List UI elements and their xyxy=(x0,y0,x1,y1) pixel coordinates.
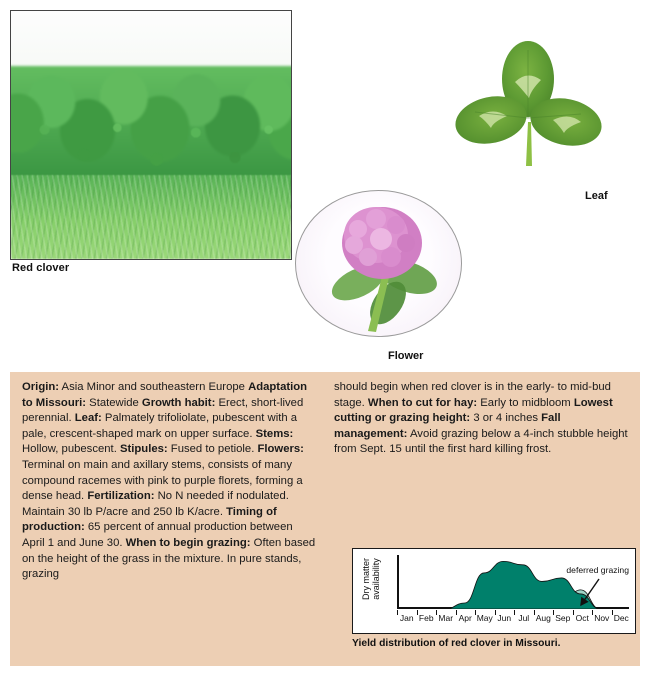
info-panel: Origin: Asia Minor and southeastern Euro… xyxy=(10,372,640,666)
flower-photo xyxy=(295,190,462,337)
chart-x-tick: May xyxy=(475,613,495,625)
info-label: Timing of production: xyxy=(22,506,277,534)
chart-caption: Yield distribution of red clover in Miss… xyxy=(352,638,560,649)
chart-x-tick-labels: JanFebMarAprMayJunJulAugSepOctNovDec xyxy=(397,613,631,625)
info-label: Flowers: xyxy=(257,443,303,455)
info-left-text: Origin: Asia Minor and southeastern Euro… xyxy=(22,380,316,583)
chart-plot-area xyxy=(397,555,629,609)
chart-x-tick: Sep xyxy=(553,613,573,625)
field-photo-red-clover xyxy=(10,10,292,260)
chart-x-tick: Mar xyxy=(436,613,456,625)
leaf-photo xyxy=(455,34,605,169)
chart-x-tick: Jan xyxy=(397,613,417,625)
chart-annotation-deferred-grazing: deferred grazing xyxy=(566,565,629,575)
publication-page: Red clover xyxy=(0,0,650,674)
info-label: Fertilization: xyxy=(87,490,154,502)
chart-y-axis-label: Dry matter availability xyxy=(361,548,381,616)
info-label: Growth habit: xyxy=(142,397,215,409)
chart-area-series xyxy=(397,555,629,609)
field-photo-caption: Red clover xyxy=(12,262,69,274)
chart-x-tick: Oct xyxy=(573,613,593,625)
info-label: Origin: xyxy=(22,381,59,393)
info-label: Stems: xyxy=(256,428,294,440)
chart-x-tick: Aug xyxy=(534,613,554,625)
info-label: When to cut for hay: xyxy=(368,397,477,409)
leaf-photo-caption: Leaf xyxy=(585,190,608,202)
yield-chart: Dry matter availability JanFebMarAprMayJ… xyxy=(352,548,636,634)
flower-photo-caption: Flower xyxy=(388,350,423,362)
info-label: Leaf: xyxy=(75,412,102,424)
chart-x-tick: Dec xyxy=(612,613,632,625)
info-right-text: should begin when red clover is in the e… xyxy=(334,380,628,458)
clover-flower-icon xyxy=(296,191,461,336)
photo-grass xyxy=(11,175,291,259)
chart-x-tick: Jun xyxy=(495,613,515,625)
chart-x-tick: Feb xyxy=(417,613,437,625)
chart-x-tick: Apr xyxy=(456,613,476,625)
info-label: Stipules: xyxy=(120,443,168,455)
media-area: Red clover xyxy=(0,0,650,372)
info-left-column: Origin: Asia Minor and southeastern Euro… xyxy=(22,380,316,583)
chart-x-tick: Jul xyxy=(514,613,534,625)
yield-chart-card: Dry matter availability JanFebMarAprMayJ… xyxy=(352,548,638,656)
chart-x-tick: Nov xyxy=(592,613,612,625)
info-label: When to begin grazing: xyxy=(126,537,251,549)
clover-leaf-icon xyxy=(455,34,605,169)
